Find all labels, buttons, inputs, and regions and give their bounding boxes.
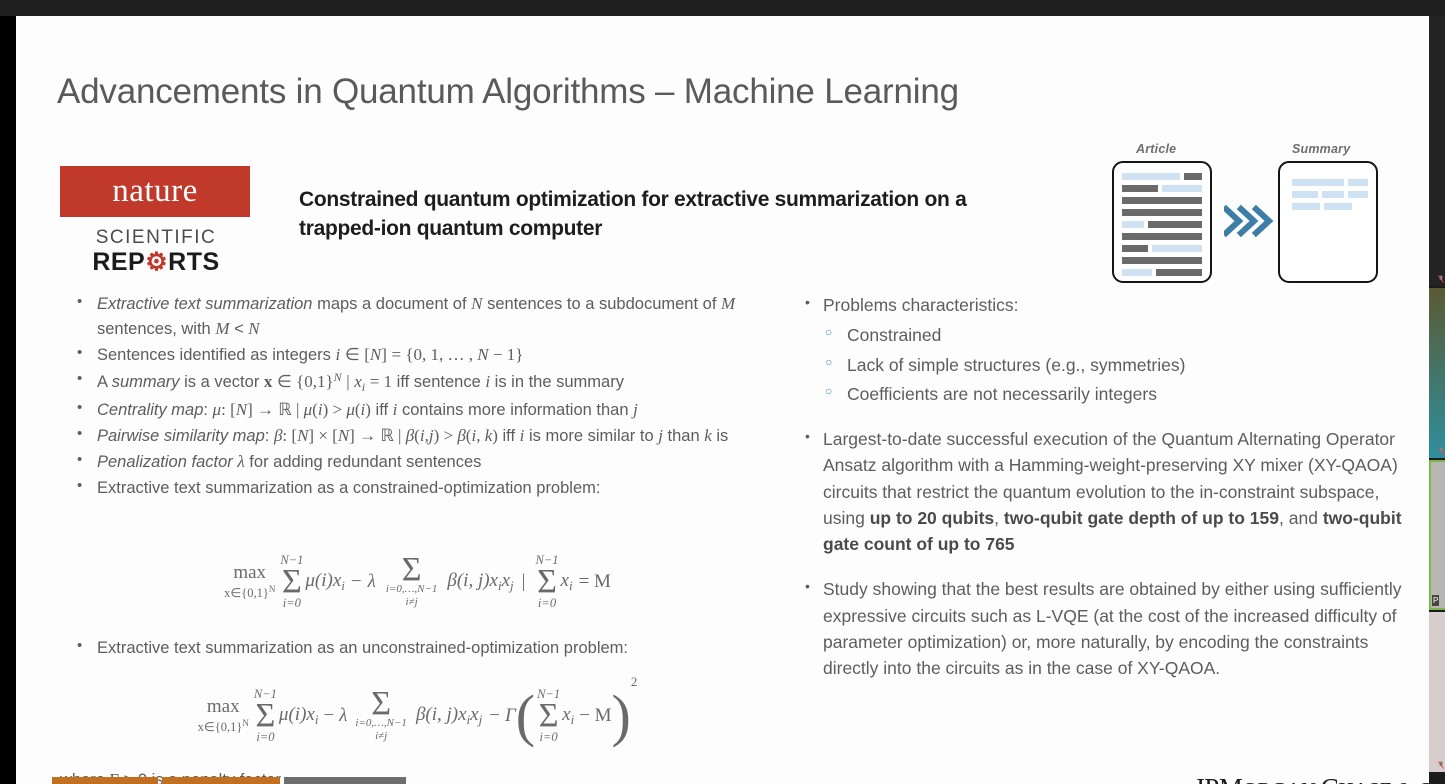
left-bullet-list: Extractive text summarization maps a doc…	[60, 292, 775, 500]
participant-thumbnail-rail[interactable]: P	[1429, 16, 1445, 784]
double-chevron-right-icon	[1224, 204, 1274, 238]
unconstrained-optimization-equation: max x∈{0,1}N N−1 Σ i=0 μ(i)xi − λ Σ i=0,…	[60, 666, 775, 766]
bullet-item: Penalization factor λ for adding redunda…	[60, 450, 775, 475]
video-conference-screen: Advancements in Quantum Algorithms – Mac…	[0, 0, 1445, 784]
constrained-optimization-equation: max x∈{0,1}N N−1 Σ i=0 μ(i)xi − λ Σ i=0,…	[60, 544, 775, 620]
eq1-term3: xi	[561, 570, 573, 594]
window-chrome-left	[0, 16, 16, 784]
eq1-sum2: Σ i=0,…,N−1 i≠j	[386, 556, 438, 608]
eq2-sum3: N−1 Σ i=0	[537, 687, 560, 744]
mic-muted-icon	[1438, 761, 1444, 769]
eq2-term1: μ(i)xi	[279, 704, 319, 728]
sub-bullet-item: Lack of simple structures (e.g., symmetr…	[801, 352, 1411, 378]
eq2-sum2: Σ i=0,…,N−1 i≠j	[355, 690, 407, 742]
bullet-item: Study showing that the best results are …	[801, 576, 1411, 681]
mic-muted-icon	[1438, 447, 1444, 455]
eq1-term1: μ(i)xi	[305, 570, 345, 594]
eq2-max-operator: max x∈{0,1}N	[198, 696, 249, 735]
sub-bullet-item: Constrained	[801, 322, 1411, 348]
reports-part-a: REP	[92, 248, 145, 276]
nature-logo-bar: nature	[60, 166, 250, 217]
bullet-item: Centrality map: μ: [N] → ℝ | μ(i) > μ(i)…	[60, 398, 775, 423]
eq2-gamma: Γ	[505, 705, 516, 727]
bullet-item: Extractive text summarization as an unco…	[60, 636, 775, 660]
nature-scientific-reports-logo: nature SCIENTIFIC REP⚙RTS	[60, 166, 252, 275]
participant-thumbnail[interactable]	[1429, 612, 1445, 772]
eq1-max-operator: max x∈{0,1}N	[224, 562, 275, 601]
bullet-item: A summary is a vector x ∈ {0,1}N | xi = …	[60, 369, 775, 397]
bullet-item: Largest-to-date successful execution of …	[801, 426, 1411, 557]
eq2-paren-open: (	[516, 698, 535, 734]
scientific-label: SCIENTIFIC	[60, 227, 252, 249]
bullet-item: Pairwise similarity map: β: [N] × [N] → …	[60, 424, 775, 449]
article-label: Article	[1136, 142, 1176, 156]
paper-title: Constrained quantum optimization for ext…	[299, 186, 979, 244]
participant-thumbnail-active-speaker[interactable]: P	[1429, 460, 1445, 610]
progress-segment	[284, 777, 406, 784]
gear-icon: ⚙	[145, 248, 168, 276]
right-bullet-column: Problems characteristics: Constrained La…	[801, 292, 1411, 693]
jpmorgan-chase-logo: JPMORGAN CHASE & CO.	[1194, 773, 1429, 784]
bullet-item: Sentences identified as integers i ∈ [N]…	[60, 343, 775, 368]
slide-title: Advancements in Quantum Algorithms – Mac…	[57, 72, 1157, 112]
eq2-power: 2	[631, 674, 638, 690]
summary-label: Summary	[1292, 142, 1350, 156]
reports-part-b: RTS	[168, 248, 220, 276]
eq2-term3: xi	[562, 704, 574, 728]
progress-segment	[162, 777, 280, 784]
reports-label: REP⚙RTS	[60, 249, 252, 275]
mic-muted-icon	[1438, 275, 1444, 283]
eq1-term2: β(i, j)xixj	[447, 570, 513, 594]
eq1-equals: = M	[579, 571, 611, 593]
nature-wordmark: nature	[112, 175, 197, 208]
eq2-paren-close: )	[612, 698, 631, 734]
bullet-item: Problems characteristics:	[801, 292, 1411, 318]
bullet-item: Extractive text summarization as a const…	[60, 476, 775, 500]
summary-document-icon	[1278, 161, 1378, 283]
sub-bullet-item: Coefficients are not necessarily integer…	[801, 381, 1411, 407]
unconstrained-bullet-wrap: Extractive text summarization as an unco…	[60, 636, 775, 661]
participant-thumbnail[interactable]	[1429, 288, 1445, 458]
participant-thumbnail[interactable]	[1429, 16, 1445, 286]
eq1-lambda: λ	[368, 571, 376, 593]
eq2-term2: β(i, j)xixj	[416, 704, 482, 728]
eq1-sum1: N−1 Σ i=0	[280, 553, 303, 610]
bullet-item: Extractive text summarization maps a doc…	[60, 292, 775, 342]
right-bullet-list: Problems characteristics: Constrained La…	[801, 292, 1411, 681]
eq2-lambda: λ	[339, 705, 347, 727]
eq1-sum3: N−1 Σ i=0	[535, 553, 558, 610]
article-to-summary-graphic: Article Summary	[1112, 142, 1402, 287]
slide-progress-bar[interactable]	[16, 777, 416, 784]
left-bullet-column: Extractive text summarization maps a doc…	[60, 292, 775, 501]
eq1-bar: |	[522, 571, 526, 593]
shared-presentation-slide[interactable]: Advancements in Quantum Algorithms – Mac…	[16, 16, 1429, 784]
eq2-sum1: N−1 Σ i=0	[254, 687, 277, 744]
participant-name-chip: P	[1432, 595, 1439, 606]
window-chrome-top	[0, 0, 1445, 16]
article-document-icon	[1112, 161, 1212, 283]
progress-segment	[52, 777, 158, 784]
